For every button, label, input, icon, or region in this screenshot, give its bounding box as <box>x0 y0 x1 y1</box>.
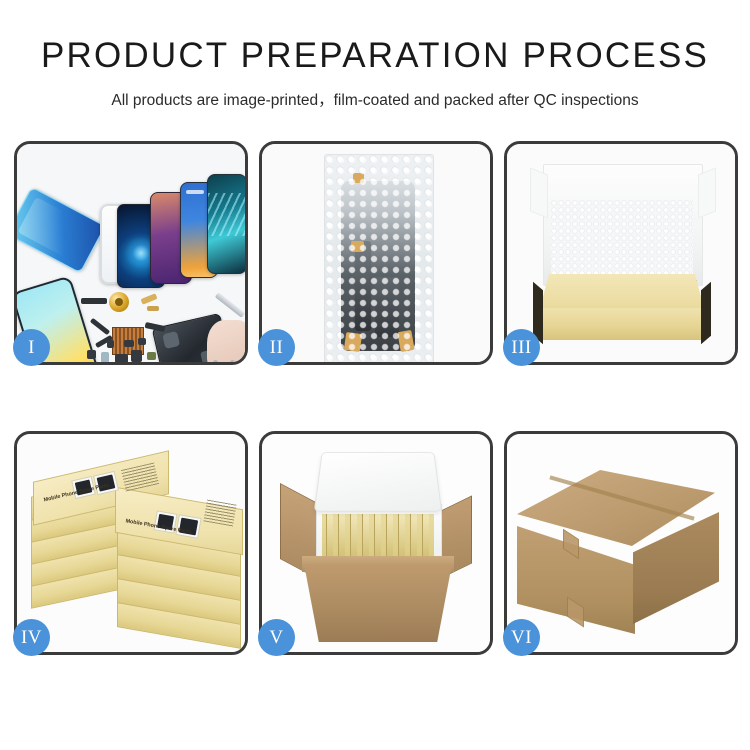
styrofoam-lid <box>314 452 443 512</box>
flex-cable <box>90 318 110 335</box>
step-5-image <box>262 434 490 652</box>
page-header: PRODUCT PREPARATION PROCESS All products… <box>0 0 750 110</box>
process-step-3[interactable]: III <box>504 141 738 365</box>
box-inner-rim <box>539 274 705 312</box>
step-badge-1: I <box>13 329 50 366</box>
step-badge-4: IV <box>13 619 50 656</box>
speaker-module <box>109 292 129 312</box>
step-badge-5: V <box>258 619 295 656</box>
screw-set <box>213 360 235 362</box>
process-step-grid: I II III <box>14 141 738 655</box>
foam-sheet <box>551 200 693 278</box>
box-front-panel <box>539 308 705 340</box>
adhesive-tape <box>353 173 364 183</box>
step-1-image <box>17 144 245 362</box>
phone-back-plate-blue <box>17 186 106 273</box>
phone-display-teal <box>207 174 245 274</box>
small-component <box>87 350 96 359</box>
technician-hand <box>207 320 245 362</box>
step-badge-3: III <box>503 329 540 366</box>
process-step-2[interactable]: II <box>259 141 493 365</box>
adhesive-tape <box>344 332 362 352</box>
tweezers-tool <box>215 292 245 318</box>
page-title: PRODUCT PREPARATION PROCESS <box>0 38 750 75</box>
process-step-5[interactable]: V <box>259 431 493 655</box>
step-2-image <box>262 144 490 362</box>
step-badge-2: II <box>258 329 295 366</box>
box-window <box>153 510 177 533</box>
bubble-wrap-bag <box>324 154 434 362</box>
small-component <box>147 352 156 360</box>
step-badge-6: VI <box>503 619 540 656</box>
box-window <box>175 514 201 539</box>
small-component <box>101 352 109 362</box>
step-4-image: Mobile Phone Spare Parts Mobile Phone Sp… <box>17 434 245 652</box>
small-component <box>115 354 128 362</box>
process-step-4[interactable]: Mobile Phone Spare Parts Mobile Phone Sp… <box>14 431 248 655</box>
process-step-1[interactable]: I <box>14 141 248 365</box>
small-component <box>131 350 142 362</box>
earpiece-mesh <box>81 298 107 304</box>
page-subtitle: All products are image-printed，film-coat… <box>0 88 750 110</box>
step-3-image <box>507 144 735 362</box>
adhesive-tape <box>351 241 364 252</box>
small-component <box>107 340 114 348</box>
wrapped-screen-assembly <box>341 181 415 351</box>
small-component <box>138 338 146 345</box>
gold-connector <box>147 306 159 311</box>
carton-body <box>304 564 452 642</box>
box-stack: Mobile Phone Spare Parts Mobile Phone Sp… <box>31 458 237 644</box>
small-component <box>124 340 134 347</box>
gold-connector <box>140 293 157 305</box>
process-step-6[interactable]: VI <box>504 431 738 655</box>
step-6-image <box>507 434 735 652</box>
packed-boxes <box>322 514 434 562</box>
